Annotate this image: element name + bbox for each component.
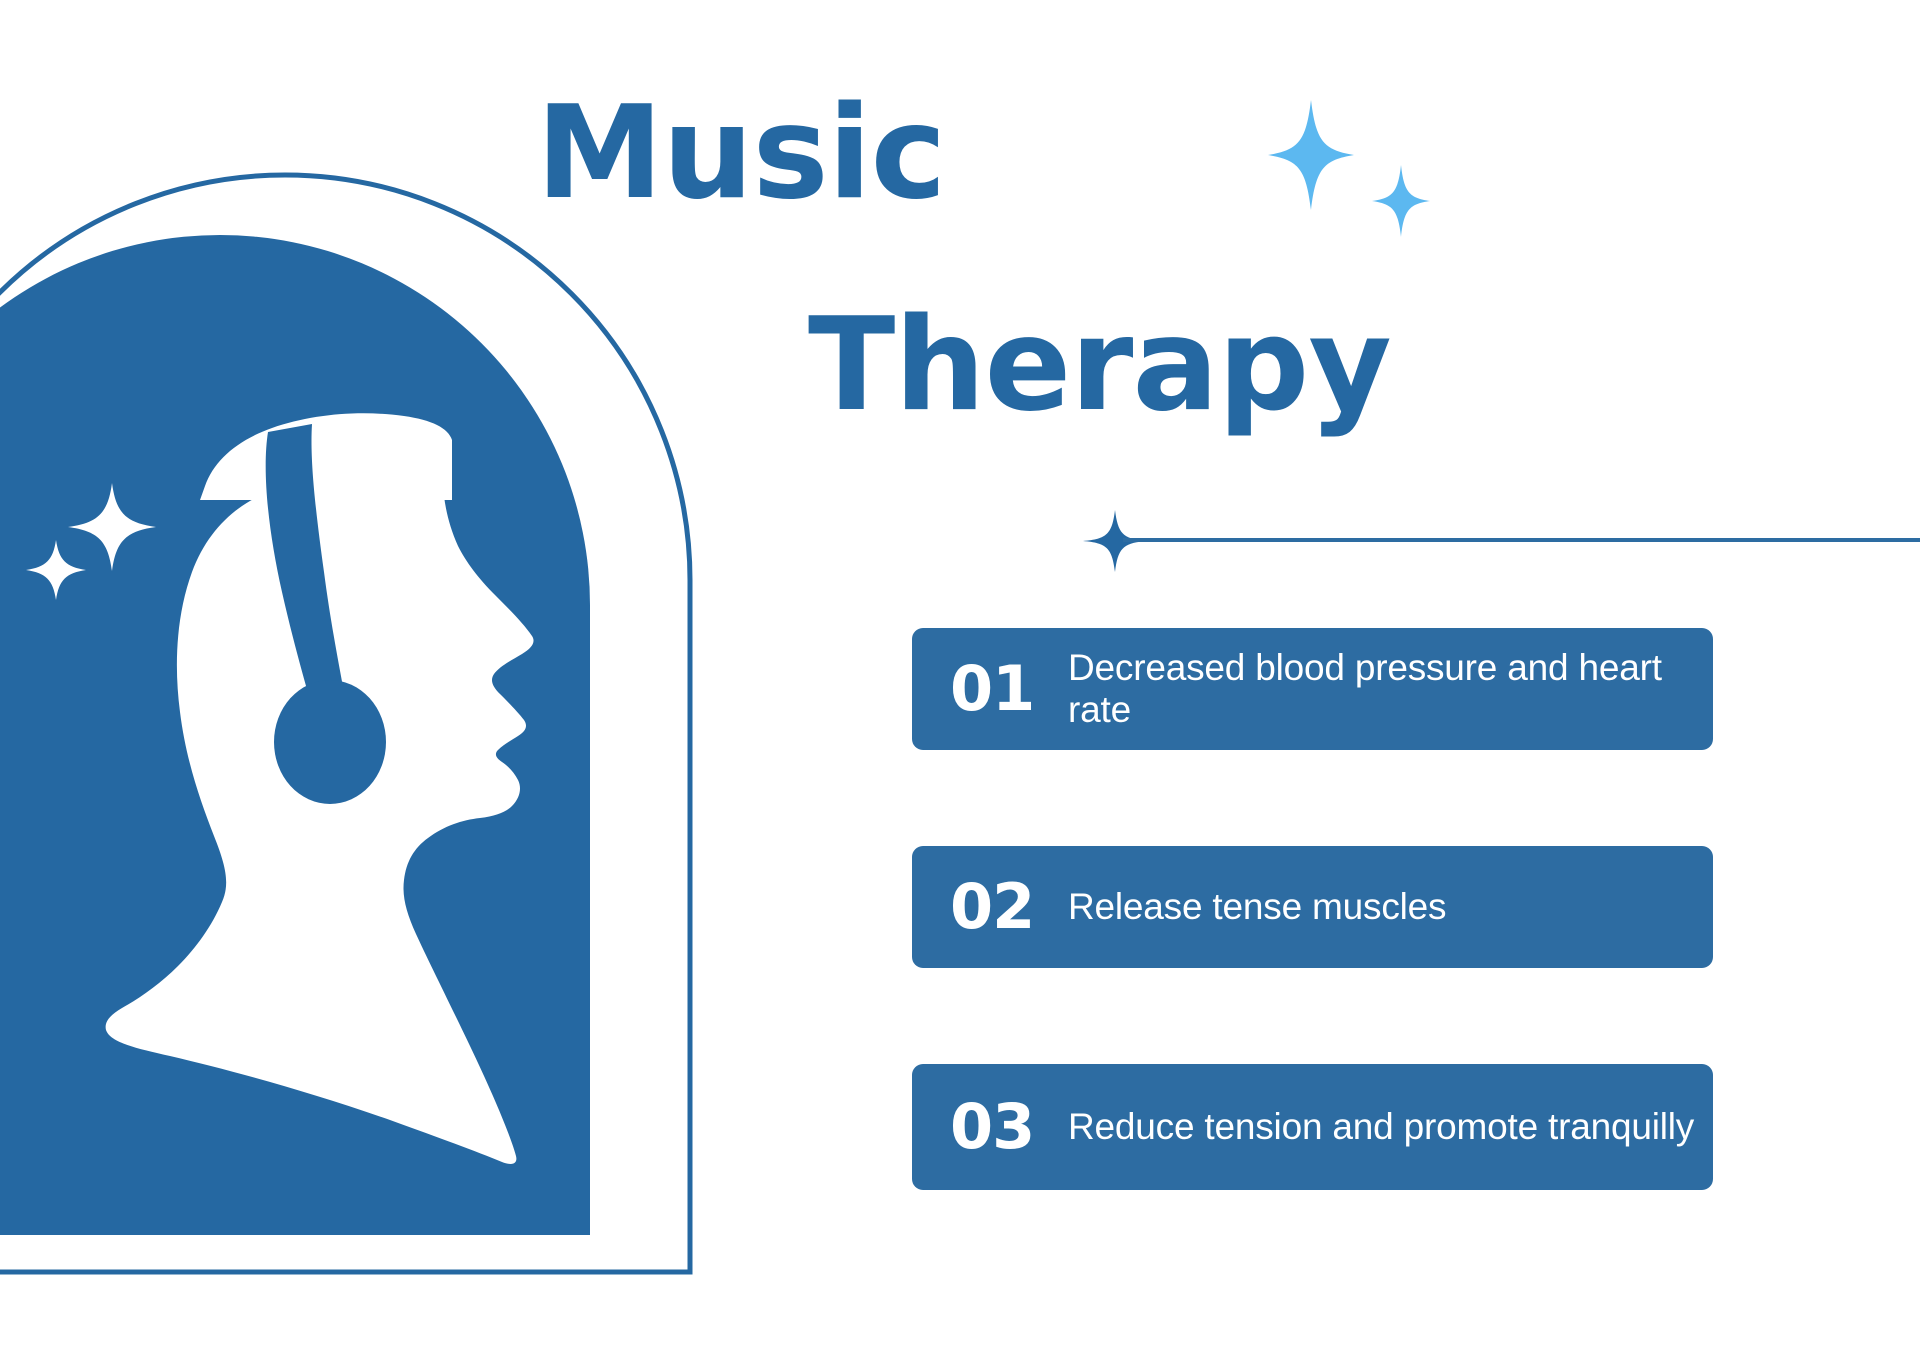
list-item[interactable]: 02 Release tense muscles bbox=[912, 846, 1713, 968]
sparkle-icon bbox=[1372, 165, 1430, 242]
list-item-label: Release tense muscles bbox=[1068, 886, 1713, 928]
list-item-number: 03 bbox=[950, 1096, 1068, 1158]
page-title: Music Therapy bbox=[530, 90, 1530, 430]
section-divider bbox=[1083, 510, 1920, 570]
title-line-therapy: Therapy bbox=[530, 302, 1530, 430]
slide-canvas: Music Therapy 01 Decreased blood pressur… bbox=[0, 0, 1920, 1363]
list-item[interactable]: 01 Decreased blood pressure and heart ra… bbox=[912, 628, 1713, 750]
list-item-number: 02 bbox=[950, 876, 1068, 938]
headphone-earcup bbox=[274, 680, 386, 804]
list-item-number: 01 bbox=[950, 658, 1068, 720]
list-item[interactable]: 03 Reduce tension and promote tranquilly bbox=[912, 1064, 1713, 1190]
divider-line bbox=[1123, 538, 1920, 542]
sparkle-icon bbox=[1268, 100, 1354, 215]
list-item-label: Decreased blood pressure and heart rate bbox=[1068, 647, 1713, 731]
benefits-list: 01 Decreased blood pressure and heart ra… bbox=[912, 628, 1713, 1190]
sparkle-icon bbox=[1083, 510, 1147, 577]
list-item-label: Reduce tension and promote tranquilly bbox=[1068, 1106, 1713, 1148]
